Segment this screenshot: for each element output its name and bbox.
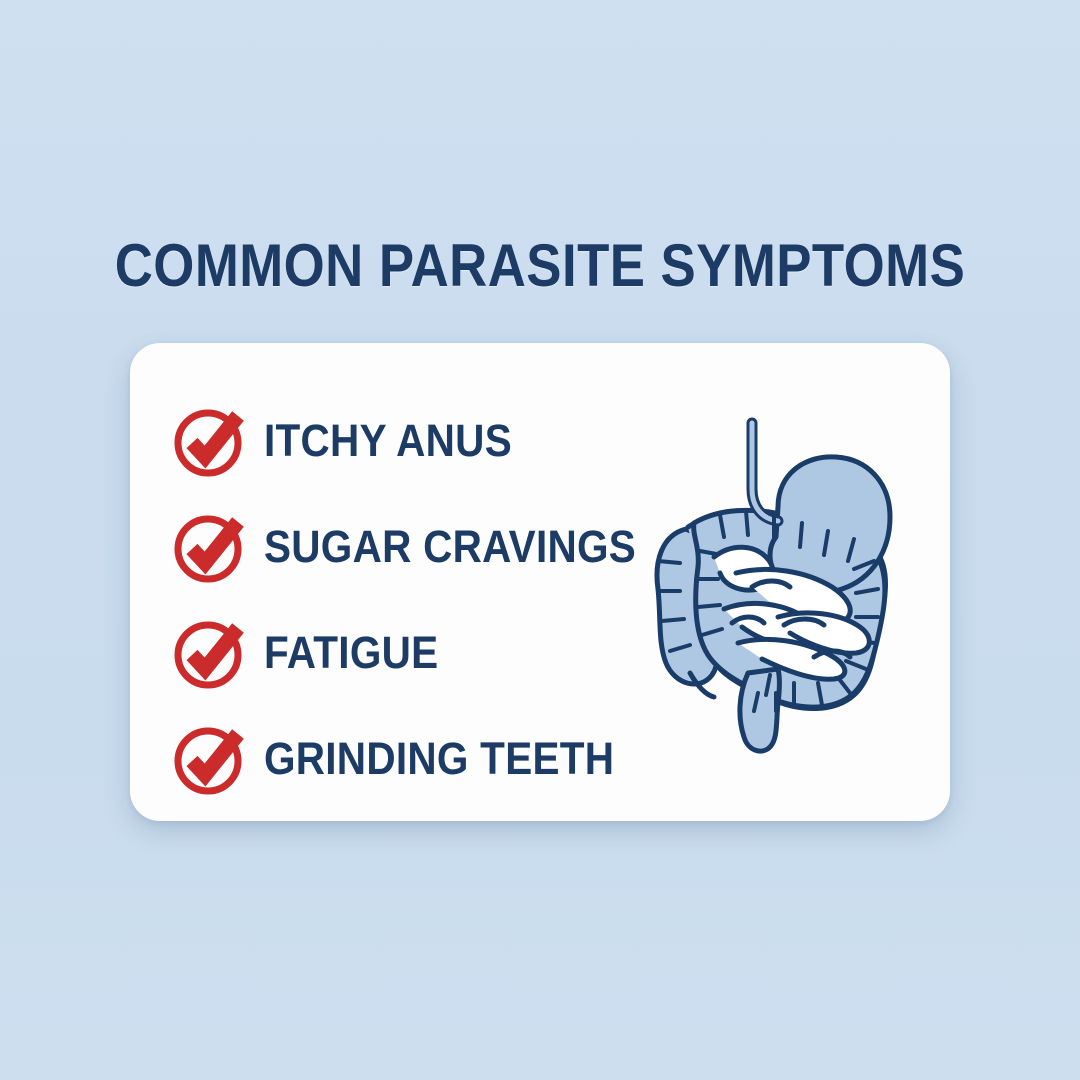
digestive-system-illustration — [628, 411, 928, 771]
list-item-label: GRINDING TEETH — [264, 736, 614, 781]
symptoms-card: ITCHY ANUS SUGAR CRAVINGS — [130, 343, 950, 821]
page-title: COMMON PARASITE SYMPTOMS — [65, 236, 1015, 296]
check-circle-icon — [172, 613, 250, 691]
symptom-list: ITCHY ANUS SUGAR CRAVINGS — [170, 387, 690, 811]
list-item-label: SUGAR CRAVINGS — [264, 524, 636, 569]
list-item[interactable]: GRINDING TEETH — [170, 705, 690, 811]
check-circle-icon — [172, 401, 250, 479]
list-item[interactable]: SUGAR CRAVINGS — [170, 493, 690, 599]
list-item-label: FATIGUE — [264, 630, 438, 675]
list-item[interactable]: FATIGUE — [170, 599, 690, 705]
infographic-poster: COMMON PARASITE SYMPTOMS ITCHY ANUS — [0, 0, 1080, 1080]
list-item-label: ITCHY ANUS — [264, 418, 512, 463]
list-item[interactable]: ITCHY ANUS — [170, 387, 690, 493]
check-circle-icon — [172, 719, 250, 797]
check-circle-icon — [172, 507, 250, 585]
